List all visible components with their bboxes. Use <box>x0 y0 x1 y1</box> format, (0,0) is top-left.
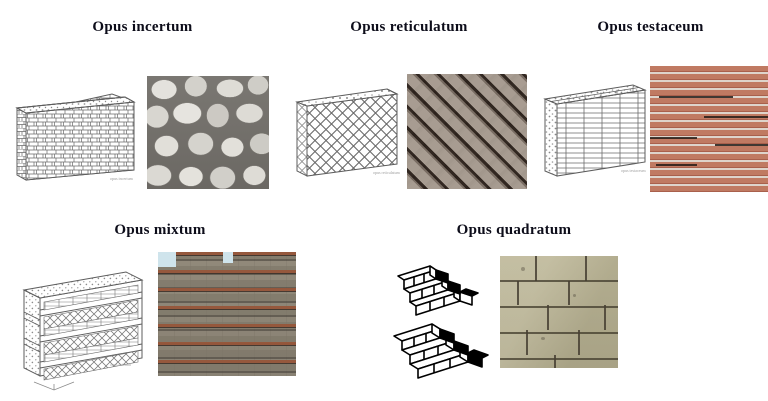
panel-title-reticulatum: Opus reticulatum <box>285 19 533 36</box>
wall-photo-testaceum <box>650 66 768 192</box>
panel-opus-quadratum: Opus quadratum <box>370 212 768 401</box>
svg-text:opus mixtum: opus mixtum <box>110 362 132 367</box>
panel-title-mixtum: Opus mixtum <box>0 222 320 239</box>
panel-opus-reticulatum: Opus reticulatum <box>285 8 533 198</box>
wall-photo-mixtum <box>158 252 296 376</box>
wall-photo-quadratum <box>500 256 618 368</box>
svg-text:opus testaceum: opus testaceum <box>621 168 646 173</box>
wall-photo-incertum <box>147 76 269 189</box>
svg-text:opus incertum: opus incertum <box>110 176 134 181</box>
sky-patch-mid <box>223 252 233 263</box>
wall-photo-reticulatum <box>407 74 527 189</box>
masonry-figure: Opus incertum <box>0 0 768 401</box>
panel-title-incertum: Opus incertum <box>0 19 285 36</box>
isometric-wall-drawing-mixtum: opus mixtum <box>10 250 158 392</box>
svg-text:opus reticulatum: opus reticulatum <box>373 170 401 175</box>
sky-patch-left <box>158 252 176 267</box>
panel-opus-mixtum: Opus mixtum <box>0 212 320 401</box>
isometric-wall-drawing-testaceum: opus testaceum <box>539 58 655 190</box>
isometric-wall-drawing-reticulatum: opus reticulatum <box>293 58 405 190</box>
panel-opus-testaceum: Opus testaceum <box>533 8 768 198</box>
isometric-wall-drawing-incertum: opus incertum <box>14 58 142 188</box>
isometric-wall-drawing-quadratum <box>380 254 496 379</box>
panel-title-testaceum: Opus testaceum <box>533 19 768 36</box>
panel-opus-incertum: Opus incertum <box>0 8 285 198</box>
panel-title-quadratum: Opus quadratum <box>370 222 658 239</box>
